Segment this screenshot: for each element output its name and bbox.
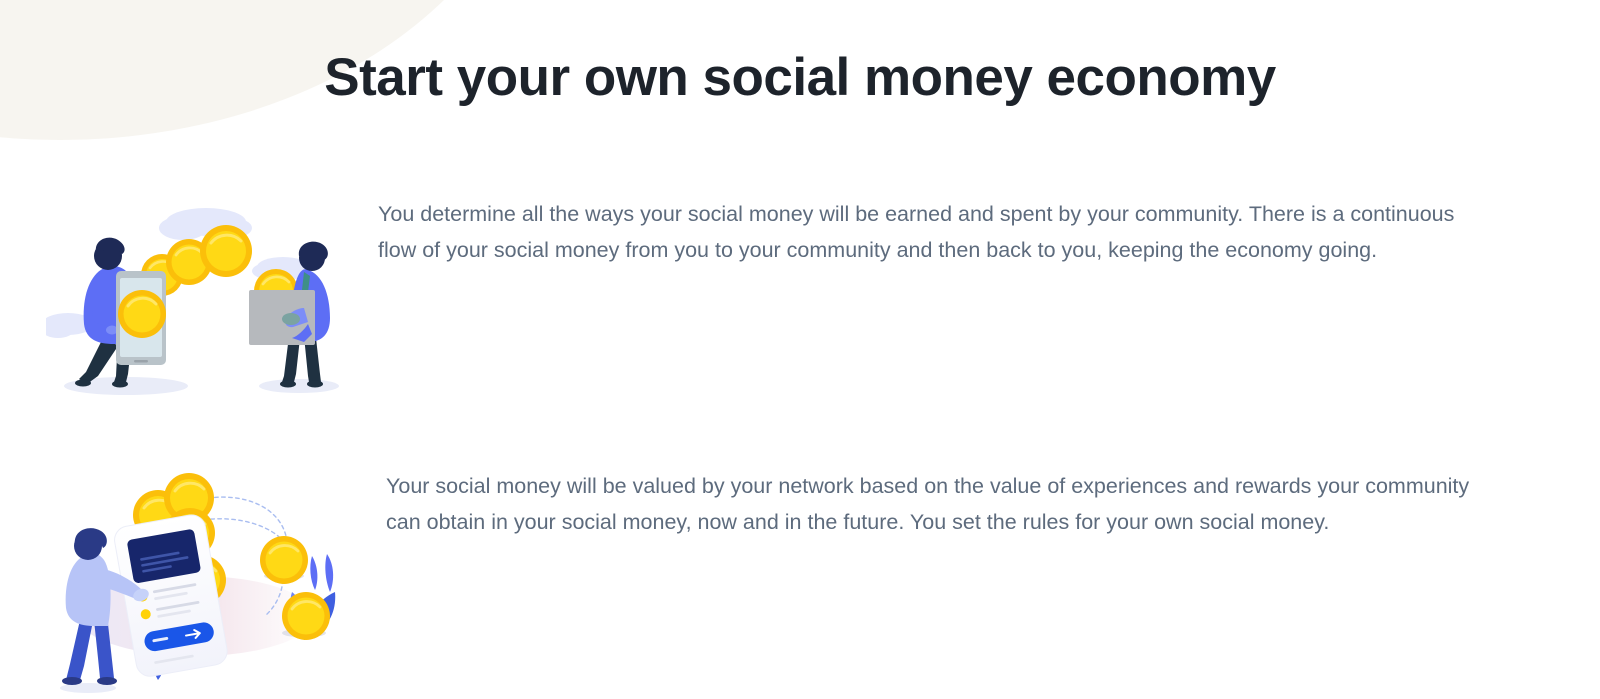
text-cell-1: You determine all the ways your social m… bbox=[378, 196, 1600, 268]
section-paragraph: Your social money will be valued by your… bbox=[386, 468, 1480, 540]
section-paragraph: You determine all the ways your social m… bbox=[378, 196, 1478, 268]
coin-icon bbox=[282, 592, 330, 640]
two-people-exchanging-coins-illustration bbox=[46, 196, 346, 396]
ground-shadows bbox=[64, 377, 339, 395]
coin-icon bbox=[260, 536, 308, 584]
person-with-phone-sending-coins-illustration bbox=[46, 468, 346, 697]
illustration-cell-2 bbox=[0, 468, 378, 697]
page-title: Start your own social money economy bbox=[0, 48, 1600, 109]
page-root: Start your own social money economy bbox=[0, 0, 1600, 699]
coin-icon bbox=[200, 225, 252, 277]
content-row-1: You determine all the ways your social m… bbox=[0, 196, 1600, 396]
coin-icon bbox=[118, 290, 166, 338]
content-row-2: Your social money will be valued by your… bbox=[0, 468, 1600, 697]
text-cell-2: Your social money will be valued by your… bbox=[378, 468, 1600, 540]
illustration-cell-1 bbox=[0, 196, 378, 396]
